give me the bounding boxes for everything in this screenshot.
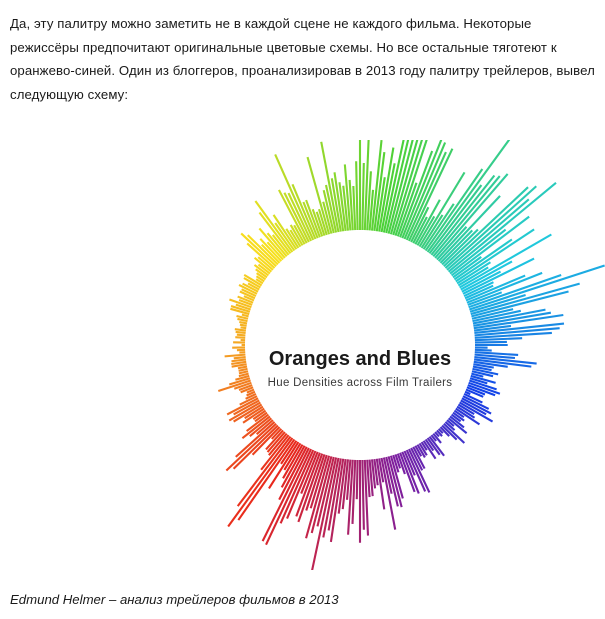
hue-bar (238, 367, 247, 369)
hue-bar (235, 329, 246, 330)
page-root: Да, эту палитру можно заметить не в кажд… (0, 0, 605, 619)
inner-circle (245, 230, 475, 460)
hue-bar (239, 322, 247, 323)
hue-bar (475, 338, 522, 340)
hue-bar (225, 355, 246, 357)
hue-bar (428, 140, 523, 252)
hue-bar (356, 161, 357, 230)
hue-bar (445, 186, 536, 268)
hue-bar (242, 315, 249, 317)
hue-bar (353, 186, 355, 230)
intro-text-block: Да, эту палитру можно заметить не в кажд… (10, 12, 596, 106)
hue-bar (236, 332, 246, 333)
hue-bar (475, 350, 492, 351)
hue-bar (235, 337, 245, 338)
hue-bar (239, 369, 248, 371)
hue-bar (231, 359, 245, 361)
hue-bar (357, 460, 358, 499)
hue-bar (362, 460, 363, 530)
chart-title: Oranges and Blues (269, 348, 451, 370)
intro-paragraph: Да, эту палитру можно заметить не в кажд… (10, 12, 596, 106)
radial-histogram-svg: Oranges and Blues Hue Densities across F… (0, 140, 605, 570)
chart-subtitle: Hue Densities across Film Trailers (268, 377, 453, 389)
hue-bar (228, 438, 292, 526)
hue-bar (362, 163, 363, 230)
figure-caption: Edmund Helmer – анализ трейлеров фильмов… (10, 592, 596, 607)
hue-bar (234, 357, 246, 358)
hue-bar (237, 335, 246, 336)
hue-bar (475, 342, 507, 343)
hue-bar (240, 325, 247, 326)
hue-bar (241, 327, 247, 328)
hue-density-figure: Oranges and Blues Hue Densities across F… (0, 140, 605, 570)
